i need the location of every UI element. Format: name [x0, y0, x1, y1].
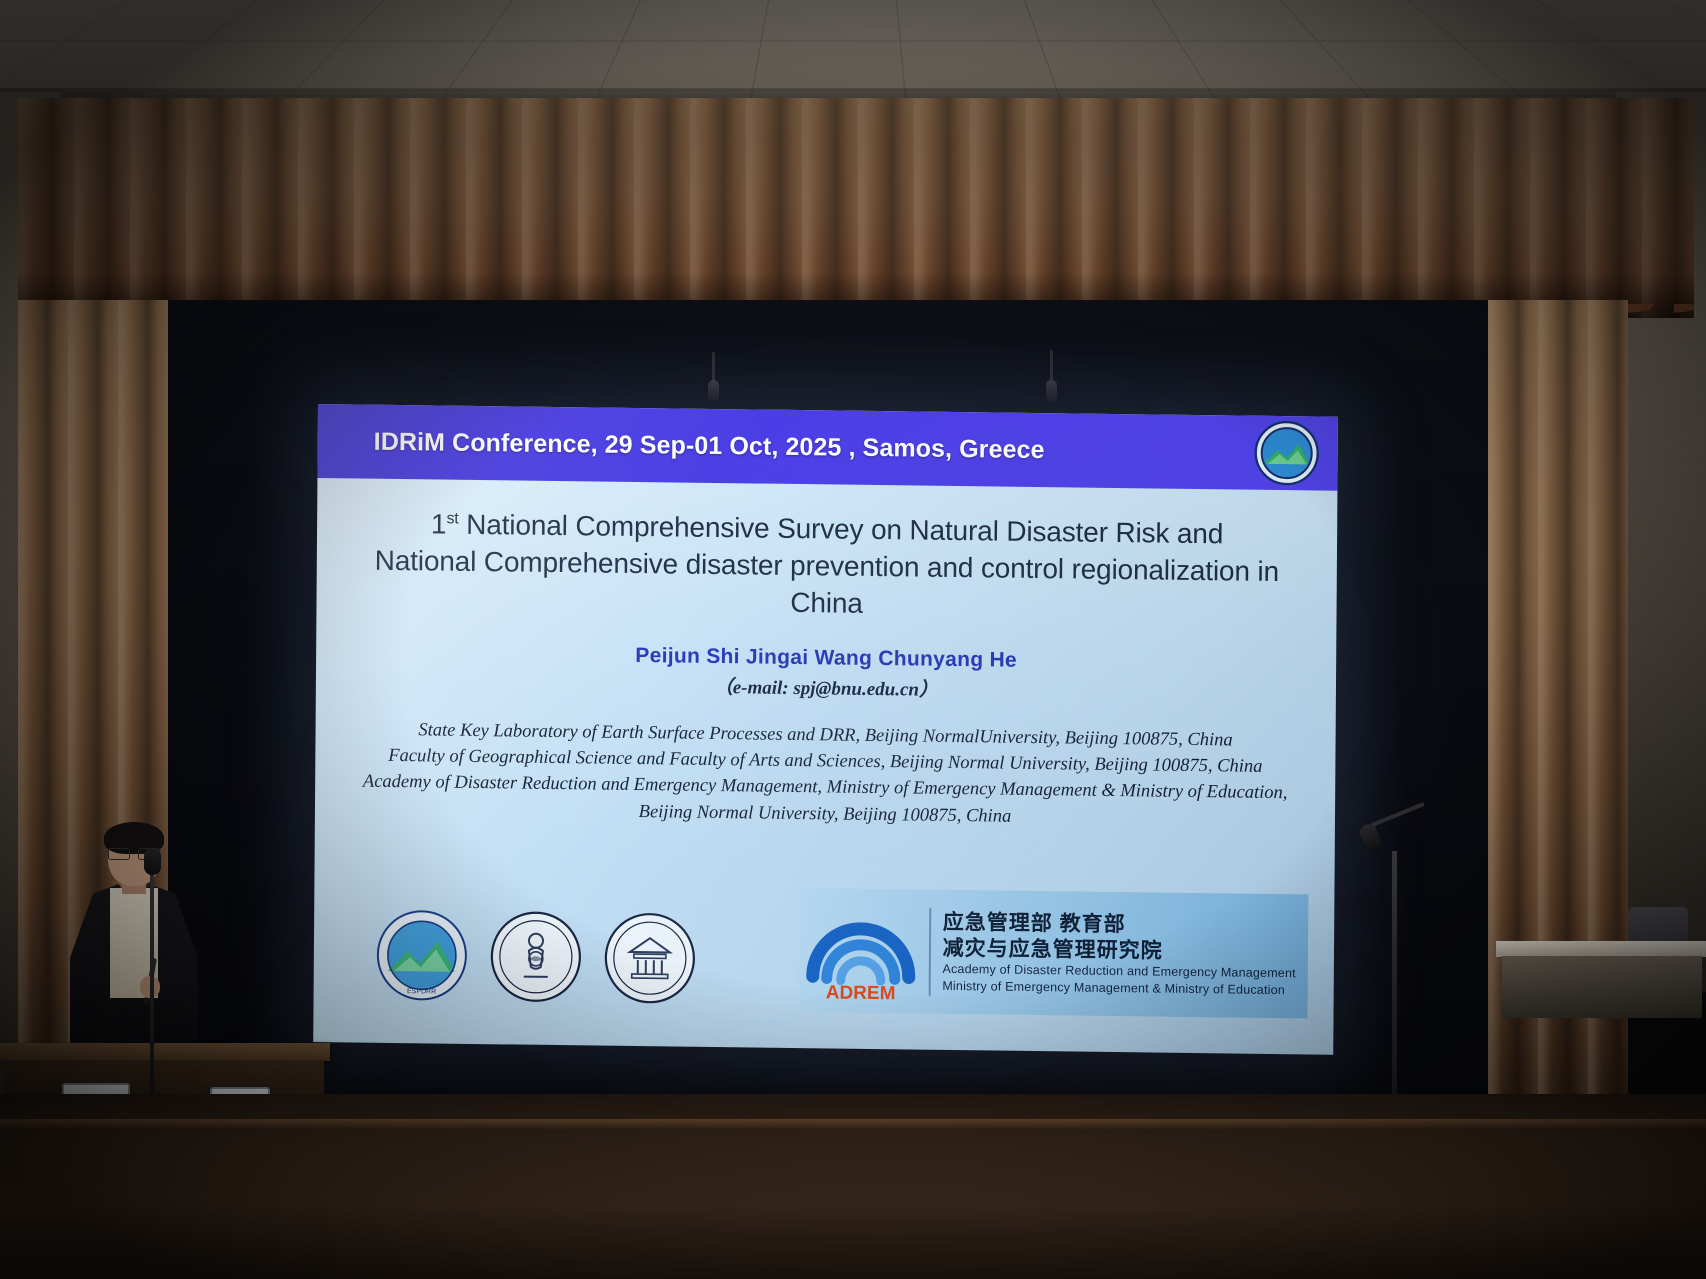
adrem-logo-panel: ADREM 应急管理部 教育部 减灾与应急管理研究院 Academy of Di… [798, 888, 1308, 1018]
table-right [1496, 941, 1706, 1061]
adrem-text-block: 应急管理部 教育部 减灾与应急管理研究院 Academy of Disaster… [942, 910, 1296, 998]
hanging-mic-2 [1046, 380, 1057, 402]
presenter [62, 826, 202, 1041]
faculty-of-arts-and-sciences-seal [604, 912, 697, 1005]
adrem-divider [928, 908, 931, 996]
mic-stand-left-pole [150, 871, 154, 1101]
hanging-mic-1 [708, 380, 719, 402]
title-line-1-rest: National Comprehensive Survey on Natural… [458, 509, 1223, 550]
slide-surface: IDRiM Conference, 29 Sep-01 Oct, 2025 , … [313, 404, 1338, 1055]
slide-title-block: 1st National Comprehensive Survey on Nat… [316, 504, 1337, 628]
institution-seals-row: ESPDRR [376, 909, 697, 1005]
table-right-skirt [1502, 956, 1702, 1018]
espdrr-circular-logo [1253, 420, 1319, 487]
title-line-1-prefix: 1 [431, 508, 447, 539]
slide-header-bar: IDRiM Conference, 29 Sep-01 Oct, 2025 , … [317, 404, 1338, 491]
affiliations-block: State Key Laboratory of Earth Surface Pr… [315, 716, 1336, 834]
projection-screen: IDRiM Conference, 29 Sep-01 Oct, 2025 , … [313, 404, 1338, 1055]
auditorium-scene: IDRiM Conference, 29 Sep-01 Oct, 2025 , … [0, 0, 1706, 1279]
espdrr-seal: ESPDRR [376, 909, 469, 1002]
desk-top [0, 1043, 330, 1061]
svg-text:ESPDRR: ESPDRR [407, 988, 436, 995]
adrem-arc-logo: ADREM [804, 898, 917, 1003]
adrem-en-line-2: Ministry of Emergency Management & Minis… [942, 977, 1295, 998]
title-line-1-superscript: st [446, 510, 458, 527]
stage-edge [0, 1119, 1706, 1129]
adrem-wordmark: ADREM [825, 982, 895, 1003]
title-line-2: National Comprehensive disaster preventi… [350, 542, 1303, 628]
conference-header-text: IDRiM Conference, 29 Sep-01 Oct, 2025 , … [374, 427, 1045, 464]
table-right-top [1496, 941, 1706, 957]
microphone-left [144, 848, 161, 875]
stage-valance [18, 98, 1694, 318]
hanging-mic-cable-1 [712, 352, 715, 382]
faculty-of-geographical-science-seal [490, 910, 583, 1003]
hanging-mic-cable-2 [1050, 350, 1053, 382]
